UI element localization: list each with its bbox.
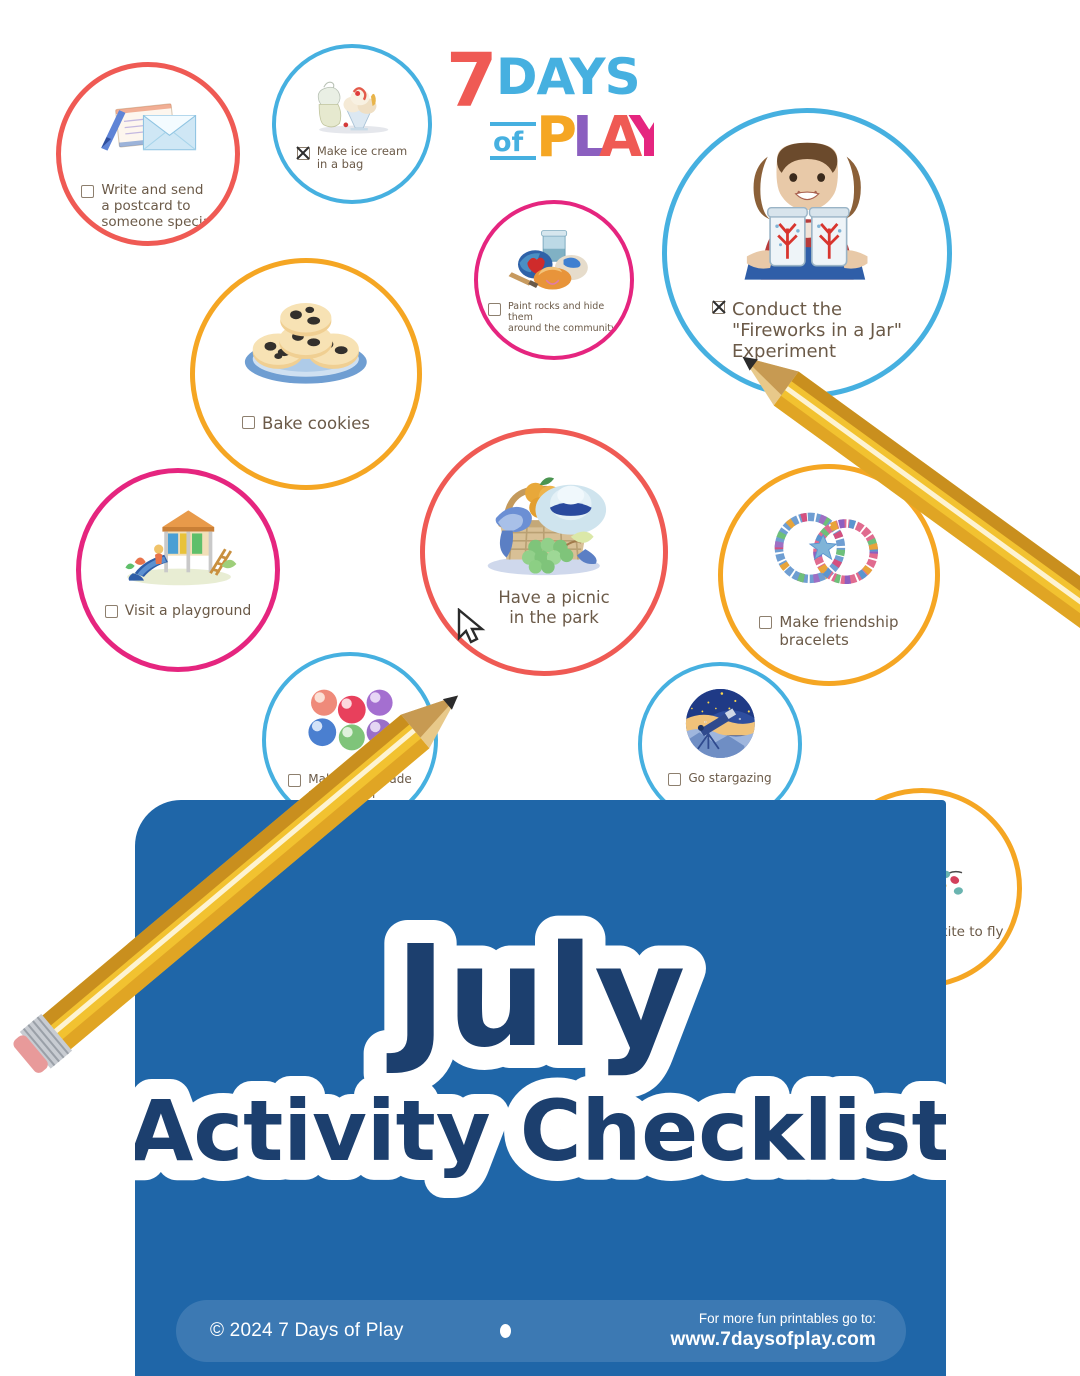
activity-label-picnic: Have a picnic in the park [498,588,609,627]
checkbox-icecream[interactable] [297,147,310,160]
footer-bar: © 2024 7 Days of Play For more fun print… [176,1300,906,1362]
checkbox-cookies[interactable] [242,416,255,429]
printables-prompt: For more fun printables go to: [671,1311,876,1327]
activity-label-rocks: Paint rocks and hide them around the com… [508,301,620,335]
checkbox-row[interactable]: Make homemade play dough [278,772,422,800]
activity-bubble-cookies[interactable]: Bake cookies [190,258,422,490]
ice-cream-sundae-icon [305,68,399,141]
checkbox-row[interactable]: Paint rocks and hide them around the com… [478,301,630,335]
checkbox-postcard[interactable] [81,185,94,198]
logo-seven: 7 [446,38,498,124]
activity-label-playdough: Make homemade play dough [308,772,412,800]
checkbox-stargazing[interactable] [668,773,681,786]
envelopes-icon [94,90,202,174]
checkbox-row[interactable]: Make ice cream in a bag [287,145,417,172]
activity-label-stargazing: Go stargazing [688,771,771,785]
activity-label-bracelets: Make friendship bracelets [779,614,898,649]
checkbox-fireworks[interactable] [712,301,725,314]
checkbox-row[interactable]: Have a picnic in the park [468,588,619,627]
logo-days: DAYS [496,48,640,106]
painted-rocks-icon [507,224,601,297]
logo-y: Y [628,105,654,166]
activity-bubble-icecream[interactable]: Make ice cream in a bag [272,44,432,204]
printable-page: 7 DAYS of P L A Y [0,0,1080,1376]
checkbox-bracelets[interactable] [759,616,772,629]
checkbox-row[interactable]: Visit a playground [95,603,262,620]
activity-label-icecream: Make ice cream in a bag [317,145,407,172]
cookie-plate-icon [237,292,375,399]
activity-bubble-picnic[interactable]: Have a picnic in the park [420,428,668,676]
dough-balls-icon [298,678,402,759]
checkbox-row[interactable]: Bake cookies [232,414,380,433]
activity-bubble-postcard[interactable]: Write and send a postcard to someone spe… [56,62,240,246]
activity-label-playground: Visit a playground [125,603,252,620]
activity-bubble-playground[interactable]: Visit a playground [76,468,280,672]
brand-logo: 7 DAYS of P L A Y [444,38,654,166]
checkbox-row[interactable]: Go stargazing [658,771,781,786]
activity-label-postcard: Write and send a postcard to someone spe… [101,183,214,231]
checkbox-rocks[interactable] [488,303,501,316]
website-url[interactable]: www.7daysofplay.com [671,1328,876,1351]
logo-p: P [536,105,577,166]
checkbox-playground[interactable] [105,605,118,618]
activity-bubble-fireworks[interactable]: Conduct the "Fireworks in a Jar" Experim… [662,108,952,398]
activity-label-fireworks: Conduct the "Fireworks in a Jar" Experim… [732,299,902,363]
checkbox-row[interactable]: Write and send a postcard to someone spe… [71,183,224,231]
checkbox-playdough[interactable] [288,774,301,787]
checkbox-row[interactable]: Make friendship bracelets [749,614,908,649]
printables-link-block[interactable]: For more fun printables go to: www.7days… [671,1311,876,1351]
activity-bubble-bracelets[interactable]: Make friendship bracelets [718,464,940,686]
separator-dot-icon [500,1324,511,1338]
activity-bubble-rocks[interactable]: Paint rocks and hide them around the com… [474,200,634,360]
checkbox-row[interactable]: Conduct the "Fireworks in a Jar" Experim… [702,299,912,363]
girl-with-jars-icon [726,133,888,287]
picnic-basket-icon [470,464,618,578]
copyright-text: © 2024 7 Days of Play [210,1320,404,1342]
playground-slide-icon [118,498,238,591]
activity-label-cookies: Bake cookies [262,414,370,433]
logo-of: of [493,127,524,158]
telescope-icon [672,686,769,761]
title-panel [135,800,946,1376]
beaded-bracelets-icon [763,497,894,599]
